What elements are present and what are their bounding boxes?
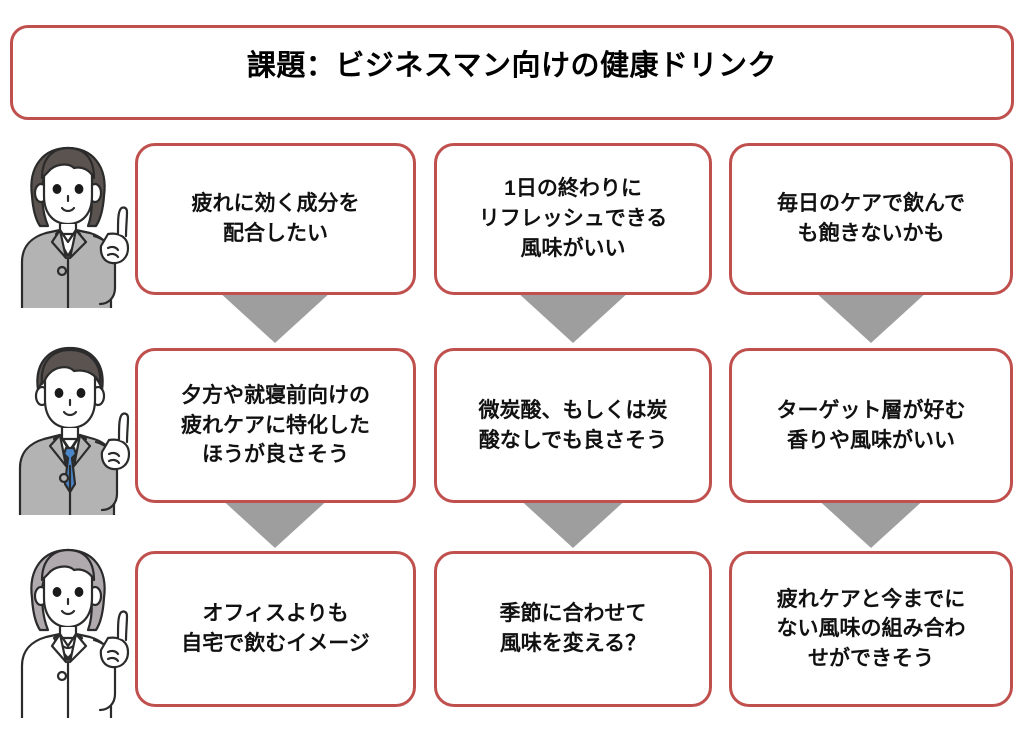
card-r3c3-text: 疲れケアと今までに ない風味の組み合わ せができそう <box>767 585 976 673</box>
arrow-col1-row2-to-row3 <box>218 496 332 548</box>
card-r3c2-text: 季節に合わせて 風味を変える？ <box>490 599 657 659</box>
diagram-canvas: 課題：ビジネスマン向けの健康ドリンク <box>0 0 1024 736</box>
card-r2c1[interactable]: 夕方や就寝前向けの 疲れケアに特化した ほうが良さそう <box>135 348 416 503</box>
card-r3c2[interactable]: 季節に合わせて 風味を変える？ <box>434 551 712 707</box>
card-r3c1-text: オフィスよりも 自宅で飲むイメージ <box>171 599 380 659</box>
card-r1c1-text: 疲れに効く成分を 配合したい <box>182 189 370 249</box>
card-r2c1-text: 夕方や就寝前向けの 疲れケアに特化した ほうが良さそう <box>171 381 380 470</box>
card-r1c2-text: 1日の終わりに リフレッシュできる 風味がいい <box>469 174 678 263</box>
arrow-col2-row2-to-row3 <box>516 496 630 548</box>
arrow-col3-row1-to-row2 <box>814 291 928 343</box>
card-r1c3-text: 毎日のケアで飲んで も飽きないかも <box>767 189 975 249</box>
page-title: 課題：ビジネスマン向けの健康ドリンク <box>247 49 777 84</box>
avatar-woman-white-coat <box>8 540 132 718</box>
avatar-businessman-blue-tie <box>8 340 132 515</box>
avatar-businesswoman-dark-hair <box>8 138 132 308</box>
challenge-title-box: 課題：ビジネスマン向けの健康ドリンク <box>10 25 1014 120</box>
arrow-col3-row2-to-row3 <box>814 496 928 548</box>
card-r2c2[interactable]: 微炭酸、もしくは炭 酸なしでも良さそう <box>434 348 712 503</box>
arrow-col1-row1-to-row2 <box>218 291 332 343</box>
card-r2c3[interactable]: ターゲット層が好む 香りや風味がいい <box>729 348 1013 503</box>
card-r1c1[interactable]: 疲れに効く成分を 配合したい <box>135 143 416 295</box>
card-r3c3[interactable]: 疲れケアと今までに ない風味の組み合わ せができそう <box>729 551 1013 707</box>
card-r2c3-text: ターゲット層が好む 香りや風味がいい <box>767 396 976 456</box>
card-r2c2-text: 微炭酸、もしくは炭 酸なしでも良さそう <box>469 396 678 456</box>
card-r1c2[interactable]: 1日の終わりに リフレッシュできる 風味がいい <box>434 143 712 295</box>
arrow-col2-row1-to-row2 <box>516 291 630 343</box>
card-r1c3[interactable]: 毎日のケアで飲んで も飽きないかも <box>729 143 1013 295</box>
card-r3c1[interactable]: オフィスよりも 自宅で飲むイメージ <box>135 551 416 707</box>
